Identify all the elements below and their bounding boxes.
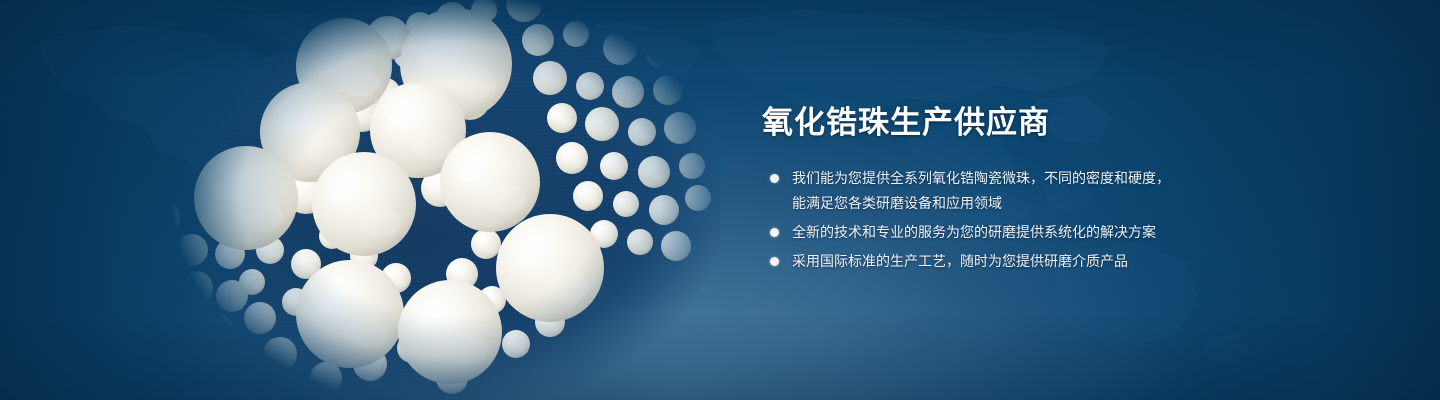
benefit-item-1-line-1: 我们能为您提供全系列氧化锆陶瓷微珠，不同的密度和硬度， (792, 166, 1282, 190)
banner-copy: 氧化锆珠生产供应商 我们能为您提供全系列氧化锆陶瓷微珠，不同的密度和硬度， 能满… (762, 104, 1282, 273)
zirconia-beads-photo (120, 0, 720, 400)
bullet-dot-icon (770, 228, 779, 237)
benefit-item-1-line-2: 能满足您各类研磨设备和应用领域 (792, 191, 1282, 215)
hero-banner: 氧化锆珠生产供应商 我们能为您提供全系列氧化锆陶瓷微珠，不同的密度和硬度， 能满… (0, 0, 1440, 400)
benefit-item-3: 采用国际标准的生产工艺，随时为您提供研磨介质产品 (762, 249, 1282, 273)
bullet-dot-icon (770, 174, 779, 183)
banner-headline: 氧化锆珠生产供应商 (762, 104, 1282, 142)
benefit-list: 我们能为您提供全系列氧化锆陶瓷微珠，不同的密度和硬度， 能满足您各类研磨设备和应… (762, 166, 1282, 273)
bead-cluster (120, 0, 720, 400)
benefit-item-2: 全新的技术和专业的服务为您的研磨提供系统化的解决方案 (762, 220, 1282, 244)
benefit-item-1: 我们能为您提供全系列氧化锆陶瓷微珠，不同的密度和硬度， 能满足您各类研磨设备和应… (762, 166, 1282, 215)
bullet-dot-icon (770, 257, 779, 266)
benefit-item-2-line-1: 全新的技术和专业的服务为您的研磨提供系统化的解决方案 (792, 220, 1282, 244)
benefit-item-3-line-1: 采用国际标准的生产工艺，随时为您提供研磨介质产品 (792, 249, 1282, 273)
